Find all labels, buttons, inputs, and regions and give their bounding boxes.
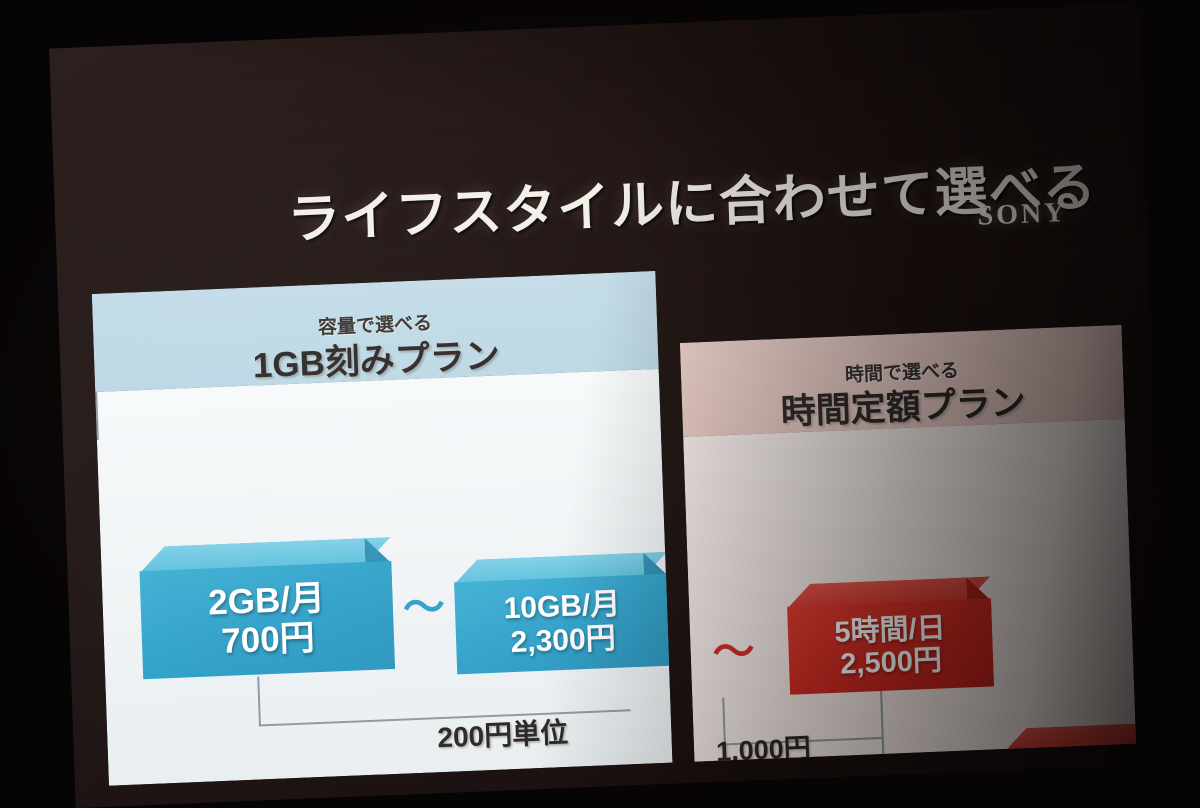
panel-capacity-plan: 容量で選べる 1GB刻みプラン 2GB/月 700円 〜 (92, 271, 673, 786)
bracket-capacity-right-tick (95, 392, 99, 440)
block-night-top-face (1004, 721, 1137, 752)
note-time-discount: 1,000円 割安 (716, 732, 813, 762)
panel-time-header: 時間で選べる 時間定額プラン (680, 325, 1125, 437)
range-tilde-time: 〜 (712, 630, 755, 674)
block-2gb-front-face: 2GB/月 700円 (139, 561, 395, 679)
block-5hours-line1: 5時間/日 (834, 612, 946, 649)
block-night-discount: 深夜割 1,500円 (1004, 721, 1137, 762)
presentation-slide-wrapper: ライフスタイルに合わせて選べる SONY 容量で選べる 1GB刻みプラン 2GB… (49, 4, 1165, 808)
panel-time-plan: 時間で選べる 時間定額プラン 〜 5時間/日 2,500円 (680, 325, 1136, 762)
range-tilde-capacity: 〜 (402, 586, 445, 630)
block-2gb-plan: 2GB/月 700円 (139, 537, 395, 679)
presentation-slide: ライフスタイルに合わせて選べる SONY 容量で選べる 1GB刻みプラン 2GB… (49, 4, 1165, 808)
slide-title: ライフスタイルに合わせて選べる (286, 158, 1097, 252)
panel-time-body: 〜 5時間/日 2,500円 深夜割 (683, 419, 1136, 762)
sony-logo: SONY (977, 197, 1068, 233)
block-10gb-line2: 2,300円 (510, 622, 616, 660)
note-capacity-increment: 200円単位 (437, 711, 569, 756)
block-5hours-line2: 2,500円 (840, 644, 943, 681)
block-5hours-plan: 5時間/日 2,500円 (786, 576, 994, 694)
block-10gb-front-face: 10GB/月 2,300円 (454, 574, 671, 675)
block-10gb-line1: 10GB/月 (503, 588, 621, 626)
bracket-time-vertical (880, 691, 885, 762)
block-2gb-line2: 700円 (221, 618, 316, 661)
block-night-line1: 深夜割 (1061, 756, 1137, 762)
projection-stage: ライフスタイルに合わせて選べる SONY 容量で選べる 1GB刻みプラン 2GB… (0, 0, 1200, 801)
note-time-line1: 1,000円 (716, 733, 812, 762)
block-2gb-line1: 2GB/月 (208, 579, 326, 623)
block-5hours-front-face: 5時間/日 2,500円 (787, 598, 994, 694)
panel-capacity-body: 2GB/月 700円 〜 10GB/月 2,300円 (95, 369, 672, 786)
block-10gb-plan: 10GB/月 2,300円 (453, 552, 671, 675)
